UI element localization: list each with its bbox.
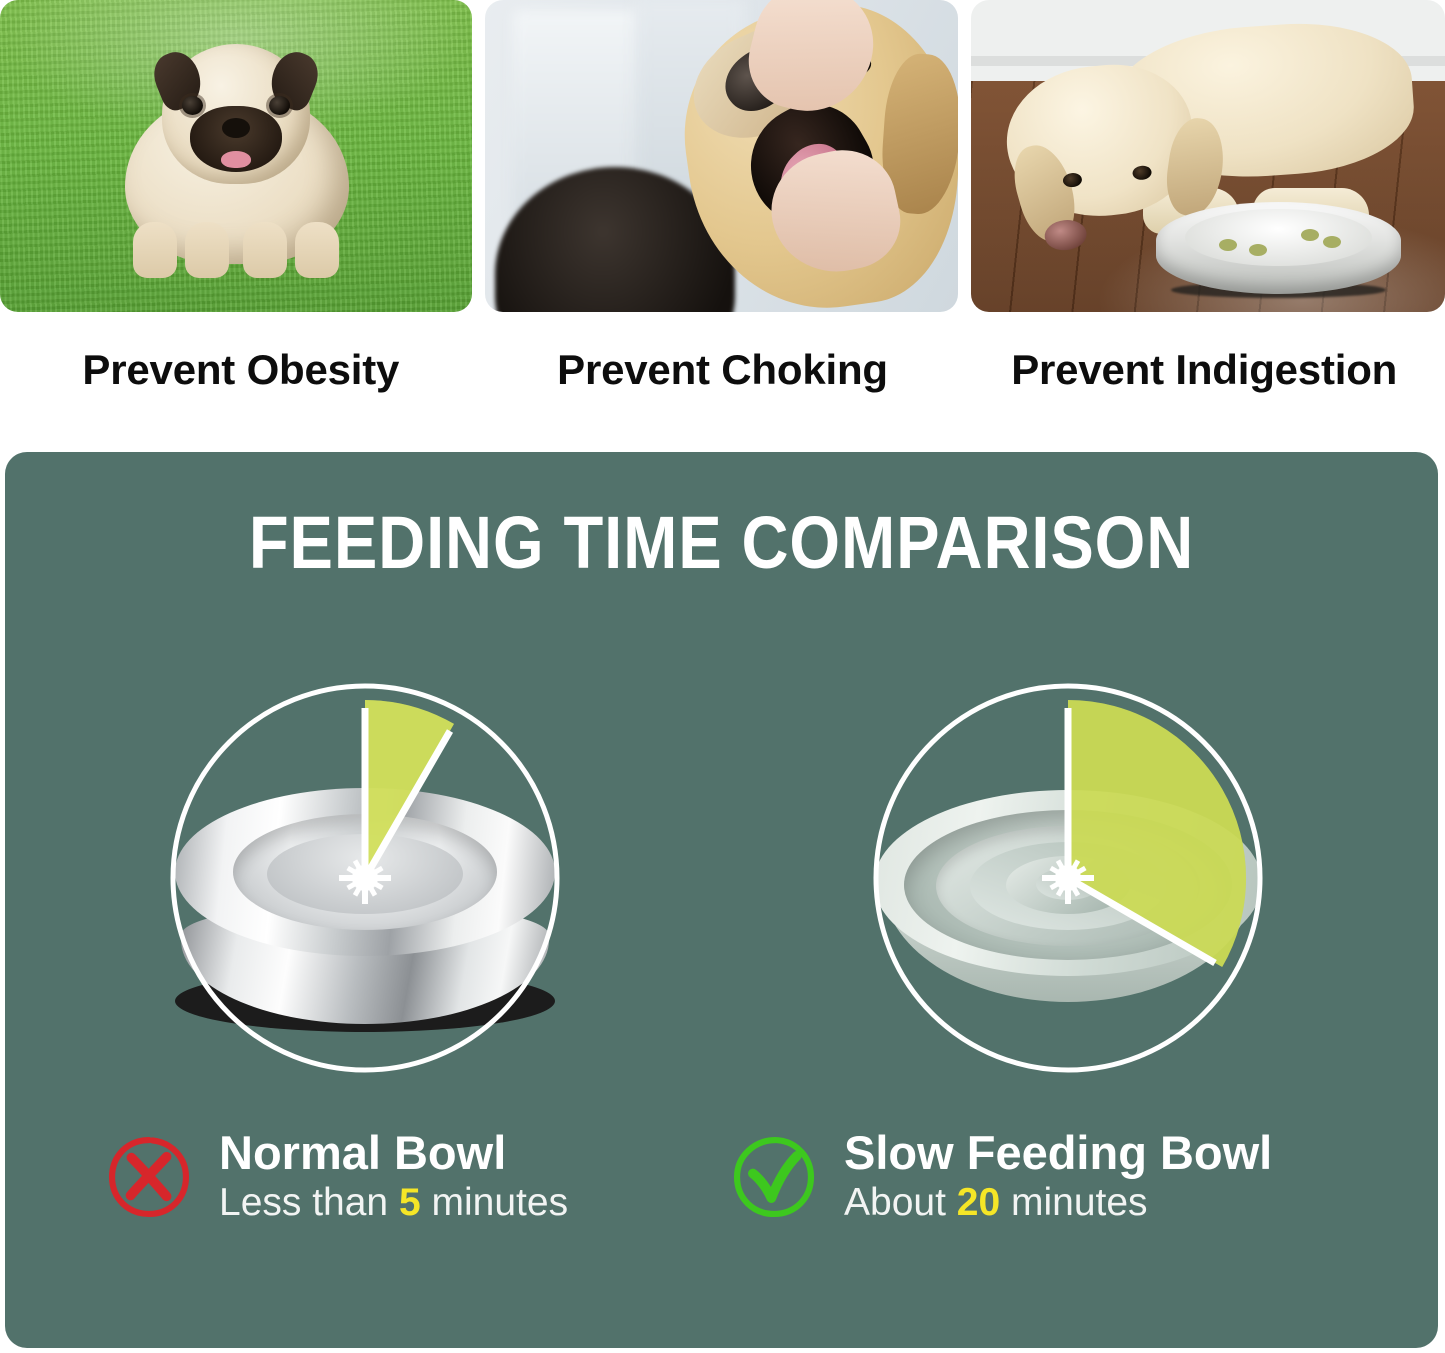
sub-prefix: Less than (219, 1181, 388, 1224)
label-title-slow-feeding-bowl: Slow Feeding Bowl (844, 1128, 1272, 1177)
clock-normal-bowl (165, 678, 565, 1078)
circled-x-icon (105, 1133, 193, 1221)
clock-slow-feeding-bowl (868, 678, 1268, 1078)
label-slow-feeding-bowl: Slow Feeding Bowl About 20 minutes (730, 1128, 1272, 1226)
photo-prevent-obesity (0, 0, 472, 312)
sub-suffix: minutes (1011, 1181, 1148, 1224)
caption-prevent-choking: Prevent Choking (482, 326, 964, 414)
clock-dial-normal (165, 678, 565, 1078)
photo-prevent-choking (485, 0, 958, 312)
steel-bowl-illustration (1156, 202, 1401, 294)
sub-prefix: About (844, 1181, 946, 1224)
label-title-normal-bowl: Normal Bowl (219, 1128, 568, 1177)
clock-center-dot (352, 865, 378, 891)
comparison-labels: Normal Bowl Less than 5 minutes Slow Fee… (5, 1128, 1438, 1268)
retriever-illustration (638, 0, 958, 312)
panel-title: FEEDING TIME COMPARISON (91, 500, 1352, 585)
label-sub-normal-bowl: Less than 5 minutes (219, 1181, 568, 1226)
sub-suffix: minutes (432, 1181, 569, 1224)
benefit-captions: Prevent Obesity Prevent Choking Prevent … (0, 326, 1445, 414)
clock-center-dot (1055, 865, 1081, 891)
label-sub-slow-feeding-bowl: About 20 minutes (844, 1181, 1272, 1226)
caption-prevent-indigestion: Prevent Indigestion (963, 326, 1445, 414)
sub-value: 5 (399, 1181, 421, 1224)
pug-illustration (111, 30, 361, 280)
clock-dial-slow (868, 678, 1268, 1078)
sub-value: 20 (957, 1181, 1000, 1224)
caption-prevent-obesity: Prevent Obesity (0, 326, 482, 414)
label-normal-bowl: Normal Bowl Less than 5 minutes (105, 1128, 568, 1226)
benefit-photo-strip (0, 0, 1445, 312)
circled-check-icon (730, 1133, 818, 1221)
photo-prevent-indigestion (971, 0, 1445, 312)
